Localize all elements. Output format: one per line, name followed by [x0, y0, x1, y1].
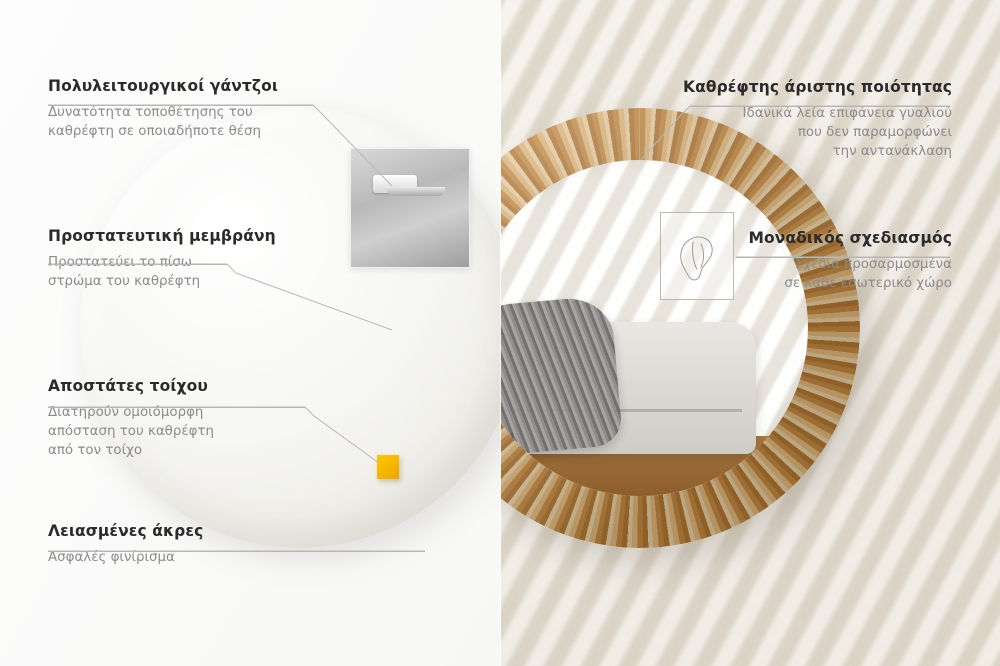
hook-closeup-inset — [350, 148, 470, 268]
mirror-product-photo — [500, 108, 860, 548]
callout-edges-title: Λειασμένες άκρες — [48, 523, 203, 540]
mirror-glass-reflection — [500, 160, 808, 496]
callout-design-title: Μοναδικός σχεδιασμός — [748, 230, 952, 247]
rule-edges — [48, 551, 425, 552]
callout-hooks: Πολυλειτουργικοί γάντζοι Δυνατότητα τοπο… — [48, 78, 278, 141]
callout-quality-title: Καθρέφτης άριστης ποιότητας — [683, 79, 952, 96]
callout-edges: Λειασμένες άκρες Ασφαλές φινίρισμα — [48, 523, 203, 567]
callout-spacers: Αποστάτες τοίχου Διατηρούν ομοιόμορφη απ… — [48, 378, 214, 460]
callout-membrane-title: Προστατευτική μεμβράνη — [48, 228, 276, 245]
rule-quality — [690, 106, 950, 107]
callout-quality: Καθρέφτης άριστης ποιότητας Ιδανικά λεία… — [683, 79, 952, 161]
callout-membrane-desc: Προστατεύει το πίσω στρώμα του καθρέφτη — [48, 253, 276, 291]
panel-split-divider — [500, 0, 501, 666]
rule-hooks — [48, 105, 313, 106]
infographic-canvas: Πολυλειτουργικοί γάντζοι Δυνατότητα τοπο… — [0, 0, 1000, 666]
callout-spacers-title: Αποστάτες τοίχου — [48, 378, 214, 395]
mounting-hook-icon — [373, 175, 445, 197]
rule-spacers — [48, 407, 305, 408]
callout-hooks-desc: Δυνατότητα τοποθέτησης του καθρέφτη σε ο… — [48, 103, 278, 141]
callout-membrane: Προστατευτική μεμβράνη Προστατεύει το πί… — [48, 228, 276, 291]
callout-design-desc: Σχέδια προσαρμοσμένα σε κάθε εσωτερικό χ… — [748, 255, 952, 293]
callout-hooks-title: Πολυλειτουργικοί γάντζοι — [48, 78, 278, 95]
rule-design — [736, 257, 950, 258]
reflected-knitted-throw — [500, 295, 623, 459]
rule-membrane — [48, 264, 227, 265]
callout-quality-desc: Ιδανικά λεία επιφάνεια γυαλιού που δεν π… — [683, 104, 952, 161]
callout-spacers-desc: Διατηρούν ομοιόμορφη απόσταση του καθρέφ… — [48, 403, 214, 460]
wall-spacer-marker — [377, 455, 399, 479]
reflected-wall-art-icon — [660, 212, 734, 300]
callout-design: Μοναδικός σχεδιασμός Σχέδια προσαρμοσμέν… — [748, 230, 952, 293]
